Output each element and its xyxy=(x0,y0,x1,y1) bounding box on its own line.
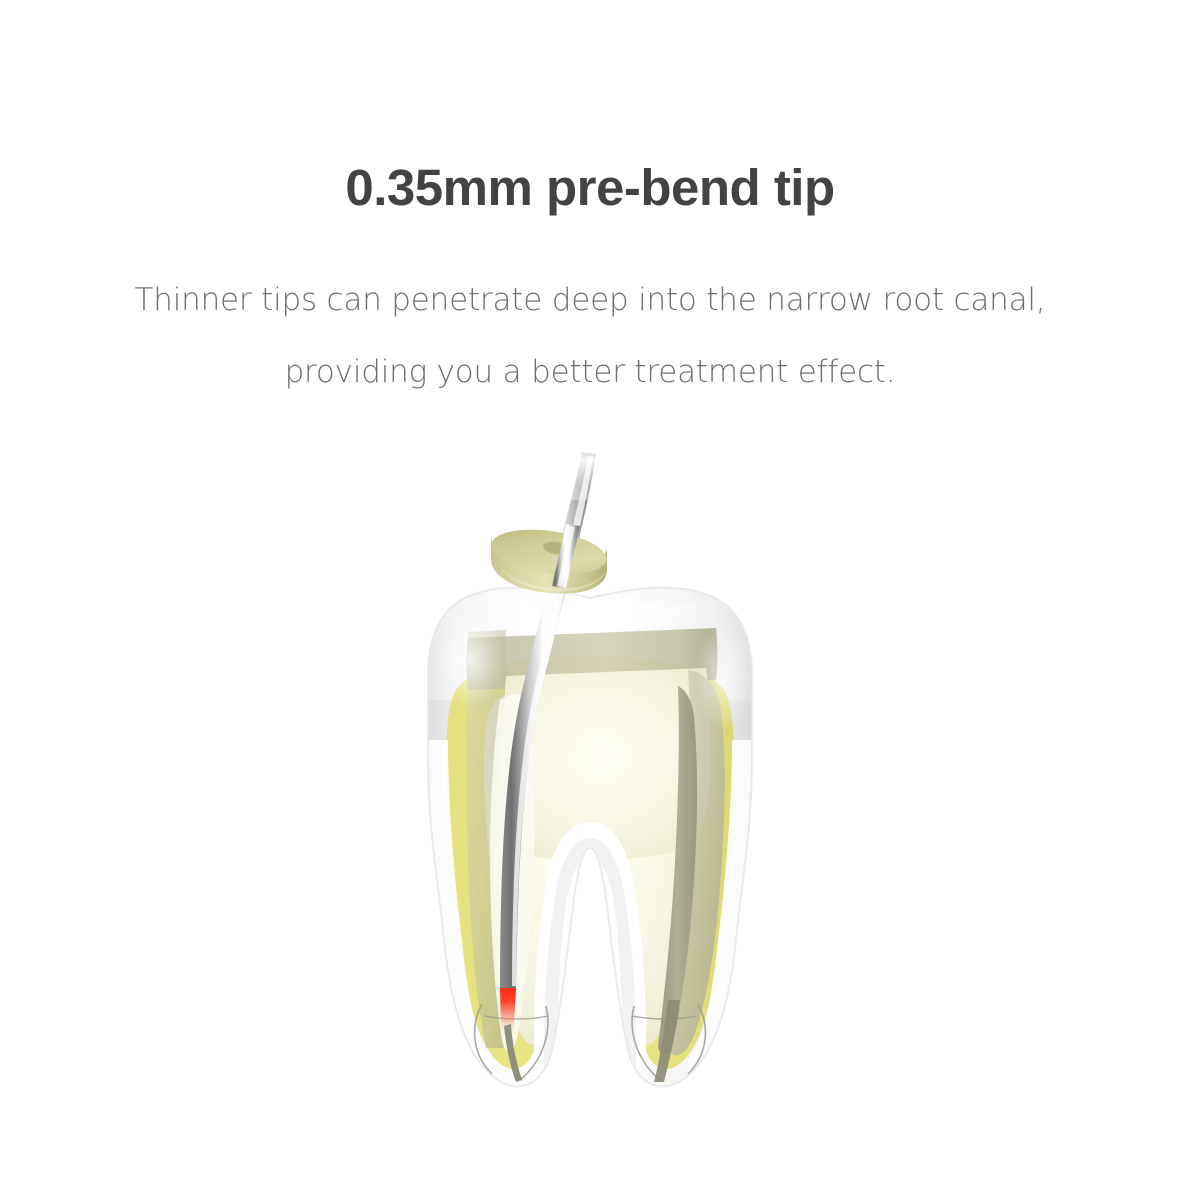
tooth-crown-highlight-top xyxy=(586,596,706,628)
tooth-cross-section xyxy=(420,588,760,1087)
tooth-illustration xyxy=(0,0,1180,1180)
page-root: 0.35mm pre-bend tip Thinner tips can pen… xyxy=(0,0,1180,1180)
file-shaft-top-fade-mask xyxy=(560,440,620,500)
tooth-crown-highlight-left xyxy=(436,612,504,708)
tooth-crown-highlight-right xyxy=(696,622,752,730)
